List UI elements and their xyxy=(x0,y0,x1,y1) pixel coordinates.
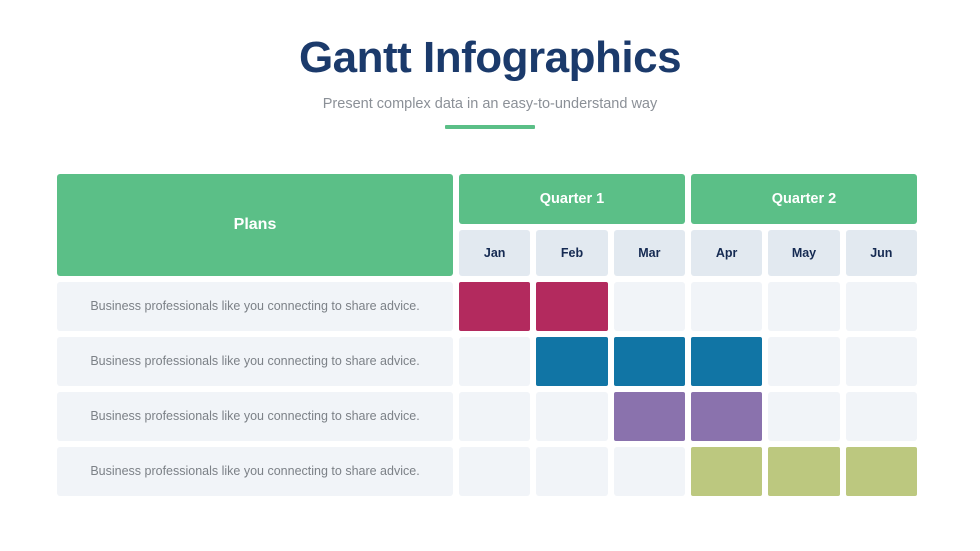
quarter-header-row: Quarter 1 Quarter 2 xyxy=(459,174,917,224)
task-label: Business professionals like you connecti… xyxy=(57,337,453,386)
month-label-apr: Apr xyxy=(716,246,738,260)
plans-header-label: Plans xyxy=(234,216,277,234)
quarter-label-1: Quarter 1 xyxy=(540,191,604,207)
gantt-bar-segment[interactable] xyxy=(768,447,839,496)
gantt-task-row: Business professionals like you connecti… xyxy=(57,447,917,496)
gantt-empty-cell xyxy=(536,447,607,496)
gantt-chart: Plans Quarter 1 Quarter 2 Jan Feb xyxy=(57,174,917,496)
task-label: Business professionals like you connecti… xyxy=(57,447,453,496)
month-label-jan: Jan xyxy=(484,246,506,260)
gantt-bar-segment[interactable] xyxy=(536,337,607,386)
gantt-empty-cell xyxy=(768,337,839,386)
gantt-empty-cell xyxy=(536,392,607,441)
month-header-cell-may: May xyxy=(768,230,839,276)
month-header-cell-feb: Feb xyxy=(536,230,607,276)
gantt-bar-segment[interactable] xyxy=(614,337,685,386)
gantt-bar-segment[interactable] xyxy=(536,282,607,331)
gantt-empty-cell xyxy=(768,392,839,441)
month-header-cell-jun: Jun xyxy=(846,230,917,276)
gantt-bar-segment[interactable] xyxy=(691,447,762,496)
month-header-cell-apr: Apr xyxy=(691,230,762,276)
gantt-empty-cell xyxy=(459,337,530,386)
gantt-bar-segment[interactable] xyxy=(614,392,685,441)
gantt-body: Business professionals like you connecti… xyxy=(57,282,917,496)
month-header-row: Jan Feb Mar Apr May Jun xyxy=(459,230,917,276)
gantt-empty-cell xyxy=(459,447,530,496)
gantt-empty-cell xyxy=(846,337,917,386)
gantt-empty-cell xyxy=(459,392,530,441)
task-track xyxy=(459,392,917,441)
gantt-empty-cell xyxy=(614,282,685,331)
month-header-cell-jan: Jan xyxy=(459,230,530,276)
slide: Gantt Infographics Present complex data … xyxy=(0,0,980,551)
gantt-bar-segment[interactable] xyxy=(691,392,762,441)
slide-header: Gantt Infographics Present complex data … xyxy=(0,0,980,129)
month-label-jun: Jun xyxy=(870,246,892,260)
gantt-empty-cell xyxy=(846,392,917,441)
month-label-may: May xyxy=(792,246,816,260)
gantt-bar-segment[interactable] xyxy=(846,447,917,496)
month-label-mar: Mar xyxy=(638,246,660,260)
timeline-header: Quarter 1 Quarter 2 Jan Feb Mar xyxy=(459,174,917,276)
quarter-label-2: Quarter 2 xyxy=(772,191,836,207)
month-header-cell-mar: Mar xyxy=(614,230,685,276)
gantt-bar-segment[interactable] xyxy=(459,282,530,331)
gantt-empty-cell xyxy=(691,282,762,331)
quarter-header-cell-2: Quarter 2 xyxy=(691,174,917,224)
task-label: Business professionals like you connecti… xyxy=(57,282,453,331)
gantt-task-row: Business professionals like you connecti… xyxy=(57,282,917,331)
gantt-bar-segment[interactable] xyxy=(691,337,762,386)
gantt-task-row: Business professionals like you connecti… xyxy=(57,337,917,386)
task-track xyxy=(459,282,917,331)
task-track xyxy=(459,337,917,386)
gantt-empty-cell xyxy=(614,447,685,496)
gantt-header-row: Plans Quarter 1 Quarter 2 Jan Feb xyxy=(57,174,917,276)
gantt-empty-cell xyxy=(768,282,839,331)
page-subtitle: Present complex data in an easy-to-under… xyxy=(0,96,980,112)
plans-header-cell: Plans xyxy=(57,174,453,276)
task-track xyxy=(459,447,917,496)
task-label: Business professionals like you connecti… xyxy=(57,392,453,441)
gantt-empty-cell xyxy=(846,282,917,331)
gantt-task-row: Business professionals like you connecti… xyxy=(57,392,917,441)
page-title: Gantt Infographics xyxy=(0,34,980,82)
month-label-feb: Feb xyxy=(561,246,583,260)
accent-underline xyxy=(445,125,535,129)
quarter-header-cell-1: Quarter 1 xyxy=(459,174,685,224)
